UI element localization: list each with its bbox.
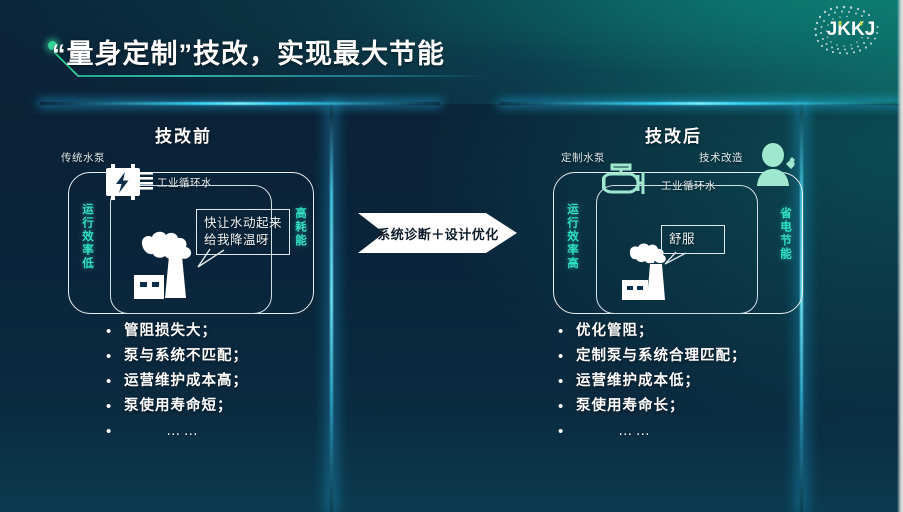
right-panel-heading: 技改后: [645, 122, 702, 147]
technician-icon: [755, 142, 797, 191]
slide-root: JKKJ “量身定制”技改，实现最大节能 技改前 技改后 传统水泵 工业循环水 …: [0, 0, 903, 512]
bullet-text: 定制泵与系统合理匹配；: [576, 347, 747, 366]
bullet-text: ……: [576, 422, 653, 441]
list-item: • 泵使用寿命长；: [558, 397, 747, 416]
left-side-label-efficiency: 运行效率低: [79, 203, 95, 271]
bullet-text: 运营维护成本低；: [576, 372, 700, 391]
bullet-text: ……: [124, 422, 201, 441]
right-side-label-efficiency: 运行效率高: [564, 203, 580, 271]
right-side-label-saving: 省电节能: [777, 207, 793, 261]
bullet-text: 管阻损失大；: [124, 322, 217, 341]
page-title: “量身定制”技改，实现最大节能: [52, 38, 445, 70]
left-bullet-list: • 管阻损失大； • 泵与系统不匹配； • 运营维护成本高； • 泵使用寿命短；…: [106, 322, 248, 447]
bullet-text: 泵使用寿命短；: [124, 397, 233, 416]
left-bubble-tail: [196, 248, 230, 270]
bullet-dot-icon: •: [106, 322, 124, 341]
list-item: • 管阻损失大；: [106, 322, 248, 341]
bullet-dot-icon: •: [558, 372, 576, 391]
bullet-text: 优化管阻；: [576, 322, 654, 341]
bullet-text: 泵与系统不匹配；: [124, 347, 248, 366]
list-item: • 运营维护成本低；: [558, 372, 747, 391]
brand-logo: JKKJ: [807, 2, 893, 56]
vertical-glow-right: [800, 104, 803, 512]
list-item: • 泵与系统不匹配；: [106, 347, 248, 366]
bullet-dot-icon: •: [558, 397, 576, 416]
list-item: • ……: [558, 422, 747, 441]
right-bubble-tail: [664, 251, 694, 269]
right-pipe-label: 工业循环水: [661, 178, 716, 193]
vertical-glow-center: [330, 104, 333, 512]
bullet-dot-icon: •: [106, 397, 124, 416]
list-item: • 优化管阻；: [558, 322, 747, 341]
right-edge-strip: [897, 0, 903, 512]
logo-wordmark: JKKJ: [827, 19, 876, 40]
list-item: • 定制泵与系统合理匹配；: [558, 347, 747, 366]
bullet-text: 泵使用寿命长；: [576, 397, 685, 416]
bullet-dot-icon: •: [106, 422, 124, 441]
bullet-dot-icon: •: [558, 422, 576, 441]
valve-pump-icon: [602, 163, 654, 206]
header-glow-right: [500, 102, 900, 105]
left-side-label-energy: 高耗能: [292, 207, 308, 248]
bullet-text: 运营维护成本高；: [124, 372, 248, 391]
page-title-wrap: “量身定制”技改，实现最大节能: [52, 38, 445, 70]
electric-pump-icon: [105, 164, 163, 205]
right-tech-label: 技术改造: [699, 150, 743, 165]
left-pipe-label: 工业循环水: [157, 175, 212, 190]
right-speech-bubble: 舒服: [661, 225, 725, 254]
list-item: • 泵使用寿命短；: [106, 397, 248, 416]
list-item: • 运营维护成本高；: [106, 372, 248, 391]
bullet-dot-icon: •: [106, 372, 124, 391]
bullet-dot-icon: •: [106, 347, 124, 366]
list-item: • ……: [106, 422, 248, 441]
header-glow-left: [40, 102, 440, 105]
left-panel-heading: 技改前: [155, 122, 212, 147]
process-arrow-label: 系统诊断＋设计优化: [372, 224, 504, 243]
right-pump-label: 定制水泵: [561, 150, 605, 165]
bullet-dot-icon: •: [558, 322, 576, 341]
left-pump-label: 传统水泵: [61, 150, 105, 165]
right-bullet-list: • 优化管阻； • 定制泵与系统合理匹配； • 运营维护成本低； • 泵使用寿命…: [558, 322, 747, 447]
bullet-dot-icon: •: [558, 347, 576, 366]
